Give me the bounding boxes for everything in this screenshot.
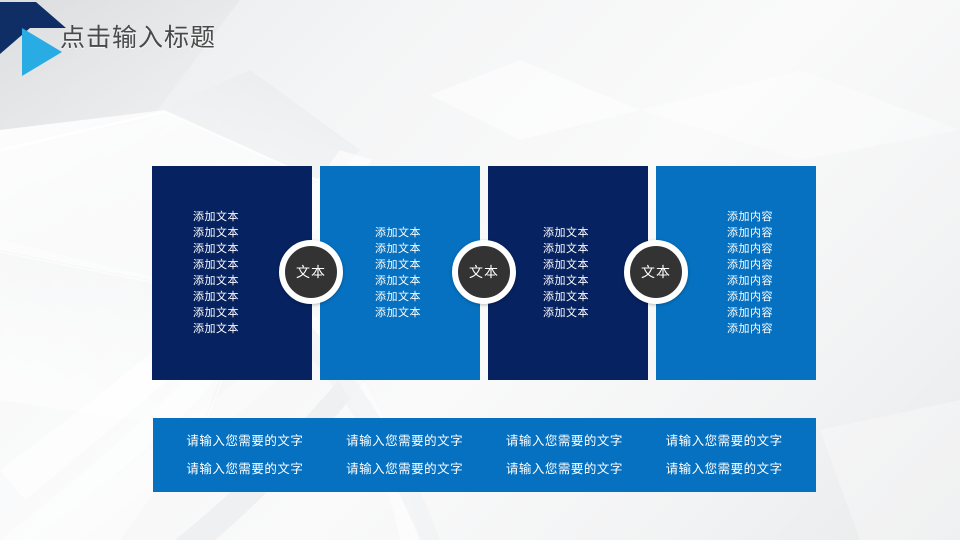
slide-canvas: 点击输入标题 添加文本 添加文本 添加文本 添加文本 添加文本 添加文本 添加文… (0, 0, 960, 540)
column-3-line: 添加文本 (543, 289, 589, 305)
column-2-text-list: 添加文本 添加文本 添加文本 添加文本 添加文本 添加文本 (375, 225, 421, 321)
cyan-triangle-shape (22, 28, 62, 76)
column-3-line: 添加文本 (543, 241, 589, 257)
column-1-line: 添加文本 (193, 321, 239, 337)
banner-cell: 请输入您需要的文字 (165, 431, 325, 451)
column-4-line: 添加内容 (727, 257, 773, 273)
banner-cell: 请输入您需要的文字 (644, 431, 804, 451)
column-1-line: 添加文本 (193, 289, 239, 305)
column-3-line: 添加文本 (543, 305, 589, 321)
column-1-line: 添加文本 (193, 241, 239, 257)
column-4-line: 添加内容 (727, 273, 773, 289)
banner-cell: 请输入您需要的文字 (644, 459, 804, 479)
banner-cell: 请输入您需要的文字 (165, 459, 325, 479)
column-3-text-list: 添加文本 添加文本 添加文本 添加文本 添加文本 添加文本 (543, 225, 589, 321)
column-4-line: 添加内容 (727, 241, 773, 257)
banner-row-1: 请输入您需要的文字 请输入您需要的文字 请输入您需要的文字 请输入您需要的文字 (161, 427, 808, 455)
connector-circle-3[interactable]: 文本 (624, 240, 688, 304)
banner-row-2: 请输入您需要的文字 请输入您需要的文字 请输入您需要的文字 请输入您需要的文字 (161, 455, 808, 483)
banner-cell: 请输入您需要的文字 (485, 431, 645, 451)
banner-cell: 请输入您需要的文字 (325, 459, 485, 479)
banner-cell: 请输入您需要的文字 (485, 459, 645, 479)
connector-circle-3-label: 文本 (641, 262, 671, 282)
page-title: 点击输入标题 (60, 20, 216, 56)
connector-circle-1[interactable]: 文本 (279, 240, 343, 304)
column-4-line: 添加内容 (727, 225, 773, 241)
column-2-line: 添加文本 (375, 289, 421, 305)
column-3-line: 添加文本 (543, 273, 589, 289)
column-2-line: 添加文本 (375, 305, 421, 321)
column-3-line: 添加文本 (543, 225, 589, 241)
column-3-line: 添加文本 (543, 257, 589, 273)
navy-arrow-shape (0, 2, 66, 54)
column-4-line: 添加内容 (727, 305, 773, 321)
column-1-line: 添加文本 (193, 257, 239, 273)
column-1-line: 添加文本 (193, 225, 239, 241)
column-2-line: 添加文本 (375, 257, 421, 273)
column-4-text-list: 添加内容 添加内容 添加内容 添加内容 添加内容 添加内容 添加内容 添加内容 (727, 209, 773, 337)
column-4-line: 添加内容 (727, 289, 773, 305)
column-2-line: 添加文本 (375, 273, 421, 289)
column-1-text-list: 添加文本 添加文本 添加文本 添加文本 添加文本 添加文本 添加文本 添加文本 (193, 209, 239, 337)
column-4-line: 添加内容 (727, 321, 773, 337)
connector-circle-2-label: 文本 (469, 262, 499, 282)
bottom-banner[interactable]: 请输入您需要的文字 请输入您需要的文字 请输入您需要的文字 请输入您需要的文字 … (153, 418, 816, 492)
column-2-line: 添加文本 (375, 225, 421, 241)
connector-circle-2[interactable]: 文本 (452, 240, 516, 304)
column-1-line: 添加文本 (193, 209, 239, 225)
column-1-line: 添加文本 (193, 273, 239, 289)
banner-cell: 请输入您需要的文字 (325, 431, 485, 451)
column-4-line: 添加内容 (727, 209, 773, 225)
column-1-line: 添加文本 (193, 305, 239, 321)
connector-circle-1-label: 文本 (296, 262, 326, 282)
column-2-line: 添加文本 (375, 241, 421, 257)
